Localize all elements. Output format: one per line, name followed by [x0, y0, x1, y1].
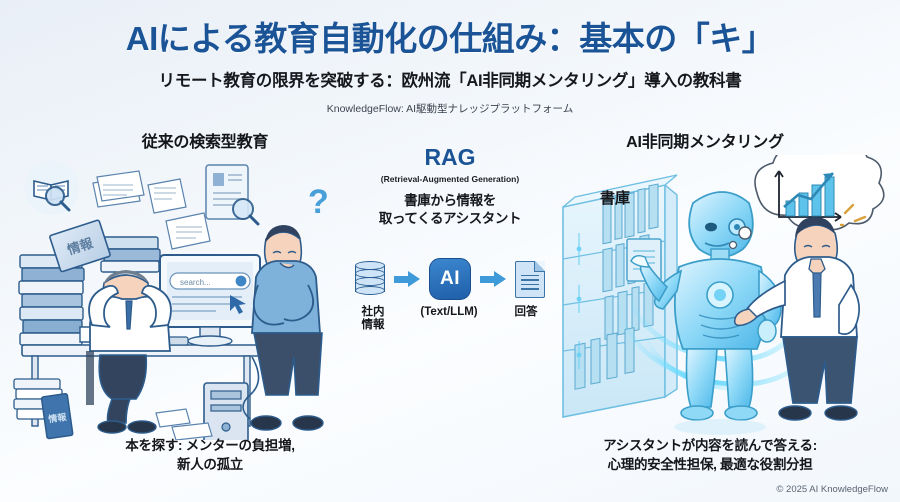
- arrow-right-icon-1: [394, 271, 420, 287]
- right-caption-line-1: アシスタントが内容を読んで答える:: [540, 437, 880, 456]
- rag-explainer: RAG (Retrieval-Augmented Generation) 書庫か…: [350, 146, 550, 227]
- left-caption-line-1: 本を探す: メンターの負担増,: [60, 437, 360, 456]
- arrow-right-icon-2: [480, 271, 506, 287]
- answer-document-icon: [515, 261, 545, 298]
- flow-label-model: (Text/LLM): [410, 306, 488, 332]
- rag-title: RAG: [350, 146, 550, 169]
- left-caption: 本を探す: メンターの負担増, 新人の孤立: [60, 437, 360, 475]
- page-title: AIによる教育自動化の仕組み：基本の「キ」: [0, 0, 900, 58]
- right-caption: アシスタントが内容を読んで答える: 心理的安全性担保, 最適な役割分担: [540, 437, 880, 475]
- left-column-heading: 従来の検索型教育: [75, 128, 335, 152]
- ai-mentoring-illustration: 書庫: [545, 155, 895, 440]
- page-subtitle: リモート教育の限界を突破する：欧州流「AI非同期メンタリング」導入の教科書: [0, 67, 900, 91]
- svg-text:search...: search...: [180, 278, 211, 287]
- right-caption-line-2: 心理的安全性担保, 最適な役割分担: [540, 456, 880, 475]
- brand-tagline: KnowledgeFlow: AI駆動型ナレッジプラットフォーム: [0, 101, 900, 116]
- shelf-label: 書庫: [600, 189, 630, 207]
- rag-subtitle: (Retrieval-Augmented Generation): [350, 174, 550, 184]
- ai-model-badge: AI: [429, 258, 471, 300]
- rag-description-line-1: 書庫から情報を: [350, 192, 550, 210]
- rag-flow-diagram: AI 社内 情報 (Text/LLM) 回答: [352, 253, 548, 343]
- copyright-footer: © 2025 AI KnowledgeFlow: [776, 484, 888, 495]
- legacy-search-illustration: 情報 search...: [8, 155, 358, 440]
- rag-description-line-2: 取ってくるアシスタント: [350, 210, 550, 228]
- database-icon: [355, 261, 385, 297]
- right-column-heading: AI非同期メンタリング: [560, 128, 850, 152]
- flow-label-output: 回答: [505, 306, 547, 332]
- question-mark-glyph: ?: [308, 183, 329, 221]
- flow-label-source: 社内 情報: [353, 306, 393, 332]
- left-caption-line-2: 新人の孤立: [60, 456, 360, 475]
- page-header: AIによる教育自動化の仕組み：基本の「キ」 リモート教育の限界を突破する：欧州流…: [0, 0, 900, 116]
